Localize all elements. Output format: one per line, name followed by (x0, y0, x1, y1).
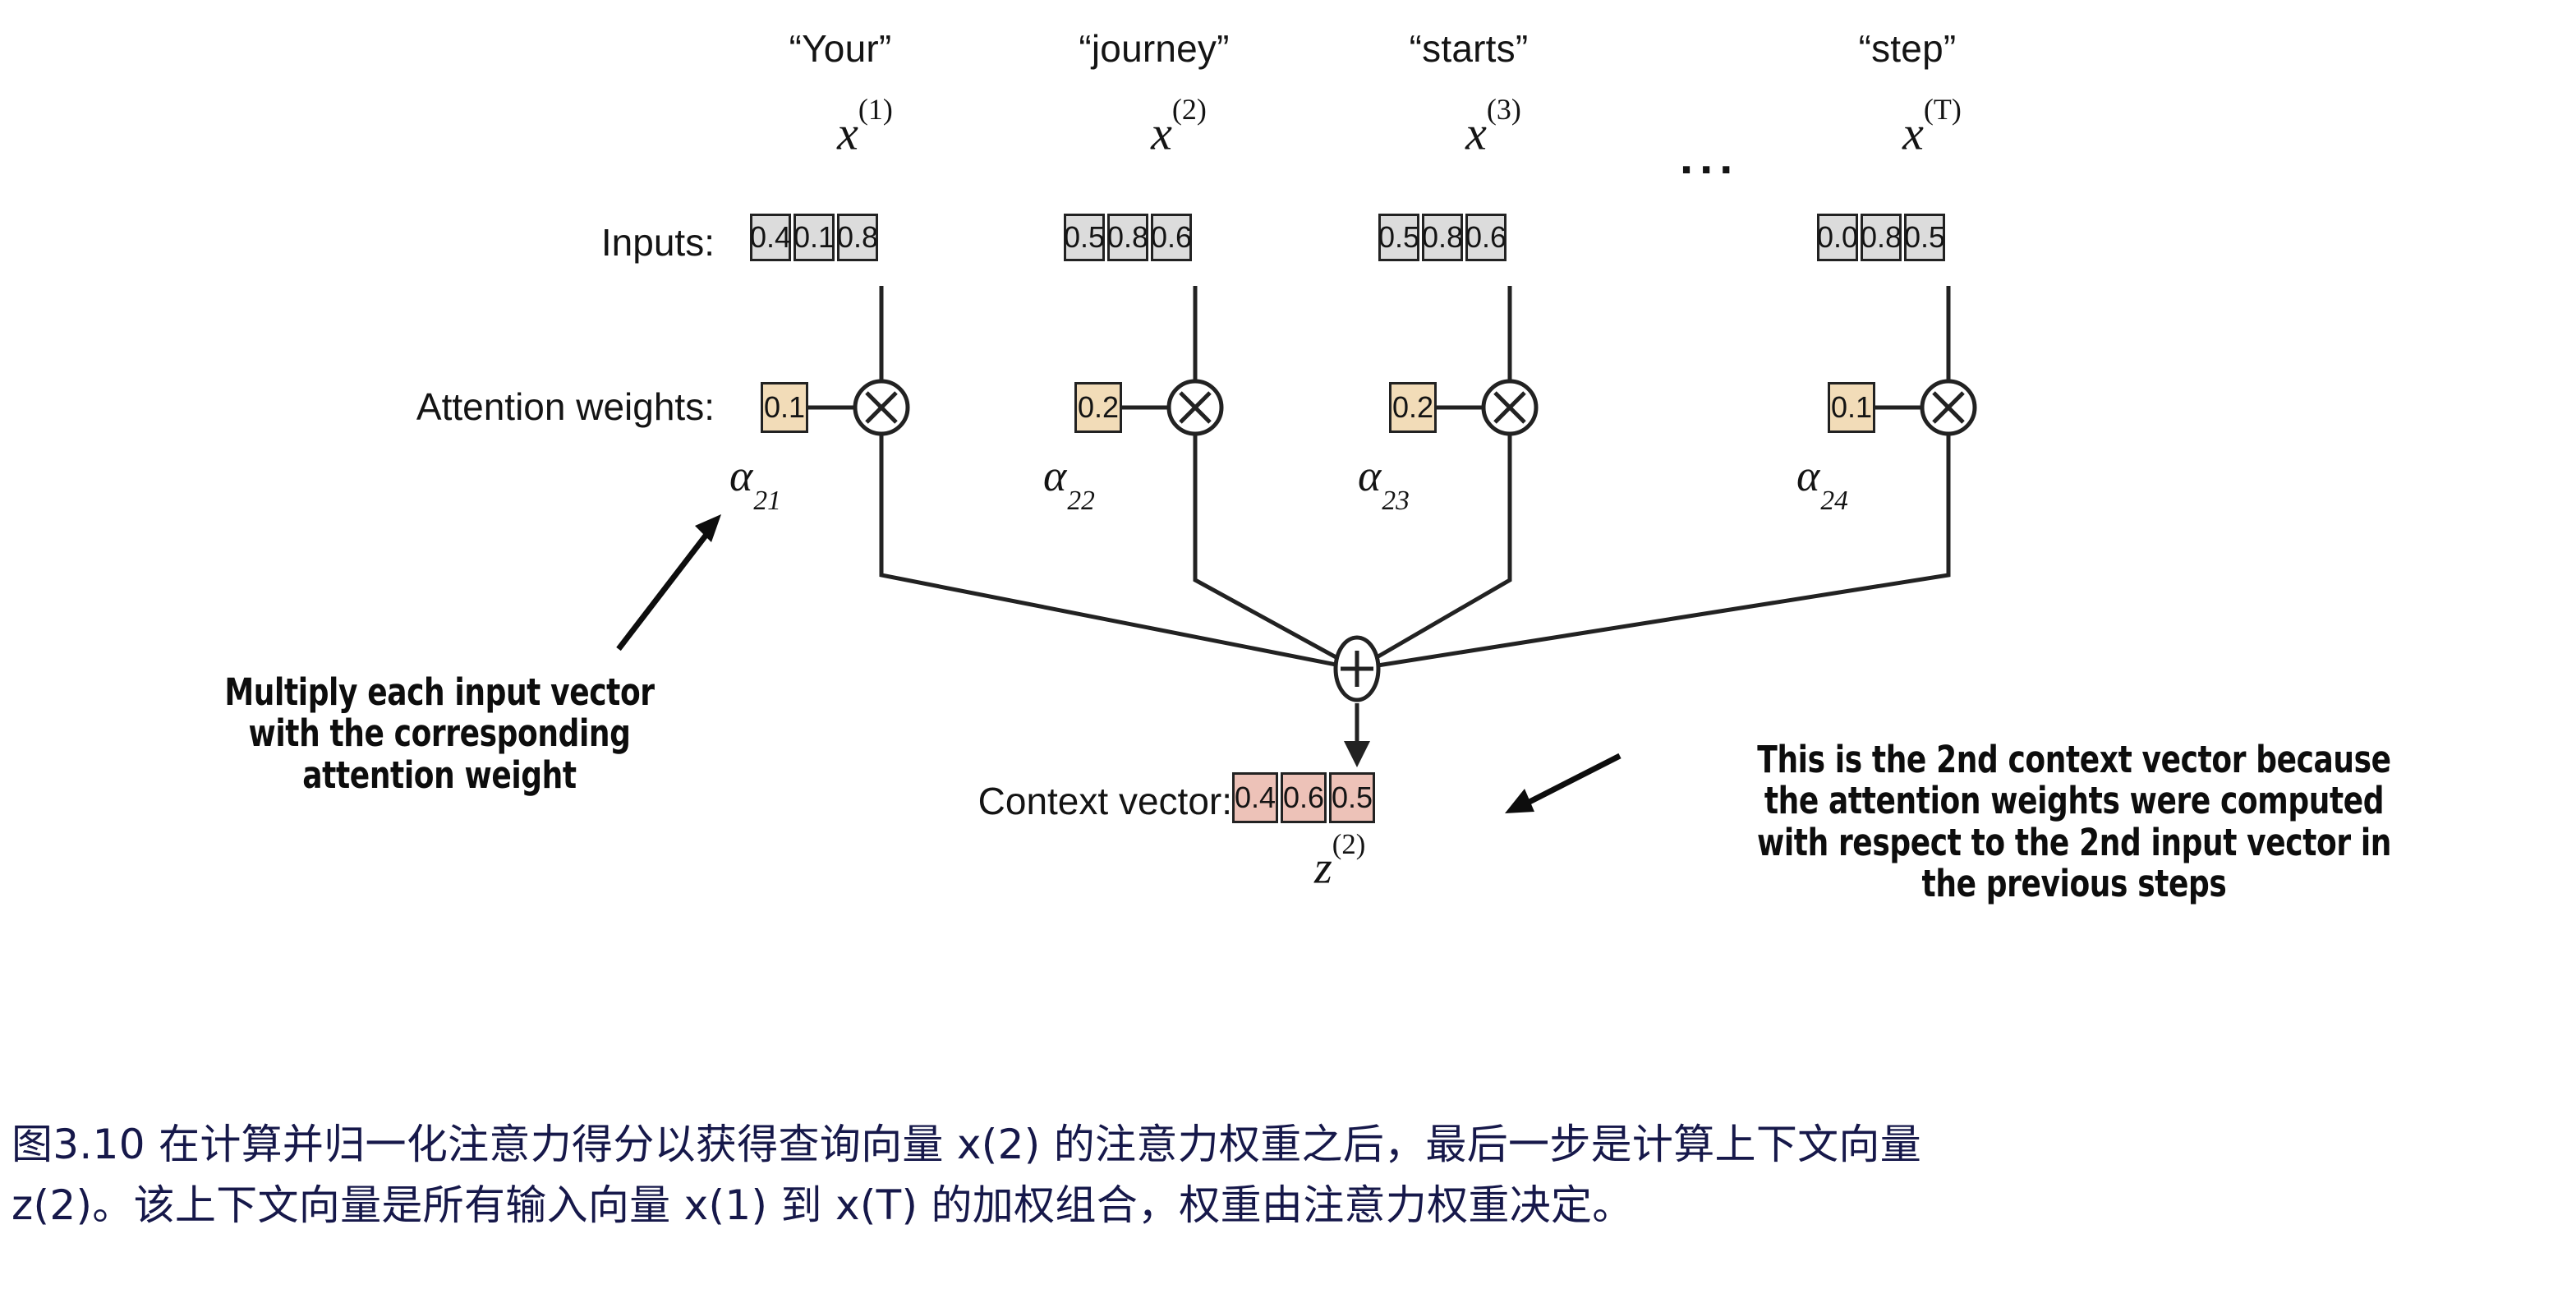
input-cell: 0.5 (1378, 214, 1419, 261)
context-symbol-base: z (1314, 843, 1332, 894)
context-cell: 0.4 (1232, 772, 1278, 823)
context-vector: 0.4 0.6 0.5 (1232, 772, 1375, 823)
alpha-label-21: α21 (729, 450, 780, 508)
input-vector-3: 0.5 0.8 0.6 (1378, 214, 1506, 261)
multiply-node-4 (1922, 381, 1975, 434)
alpha-label-22-base: α (1043, 451, 1066, 500)
token-label-2: “journey” (1056, 26, 1253, 71)
annotation-right-line-3: with respect to the 2nd input vector in (1683, 822, 2465, 863)
input-vector-4: 0.0 0.8 0.5 (1817, 214, 1945, 261)
alpha-label-23-base: α (1358, 451, 1381, 500)
input-cell: 0.8 (1107, 214, 1148, 261)
context-symbol: z(2) (1314, 841, 1365, 895)
token-label-3: “starts” (1370, 26, 1567, 71)
figure-caption-line-2: z(2)。该上下文向量是所有输入向量 x(1) 到 x(T) 的加权组合，权重由… (11, 1175, 2566, 1236)
alpha-label-24: α24 (1796, 450, 1847, 508)
annotation-right: This is the 2nd context vector because t… (1683, 739, 2465, 905)
figure-caption-line-1: 图3.10 在计算并归一化注意力得分以获得查询向量 x(2) 的注意力权重之后，… (11, 1114, 2566, 1175)
figure-caption: 图3.10 在计算并归一化注意力得分以获得查询向量 x(2) 的注意力权重之后，… (11, 1114, 2566, 1236)
input-symbol-1-sup: (1) (858, 93, 893, 126)
attention-weight-2: 0.2 (1074, 382, 1122, 433)
token-label-4: “step” (1809, 26, 2006, 71)
attention-weights-row-label: Attention weights: (238, 384, 715, 429)
connector-wires (0, 0, 2576, 1303)
ellipsis-indicator: ... (1680, 130, 1739, 185)
multiply-node-1 (855, 381, 908, 434)
multiply-node-2 (1169, 381, 1221, 434)
input-symbol-2-sup: (2) (1172, 93, 1207, 126)
wire-mul-1-to-sum (881, 430, 1357, 669)
input-symbol-4-base: x (1902, 106, 1924, 159)
input-vector-2: 0.5 0.8 0.6 (1064, 214, 1192, 261)
context-vector-row-label: Context vector: (846, 779, 1232, 823)
input-symbol-3-sup: (3) (1487, 93, 1521, 126)
alpha-label-22: α22 (1043, 450, 1094, 508)
attention-weight-cell: 0.2 (1074, 382, 1122, 433)
wire-mul-2-to-sum (1195, 430, 1357, 669)
arrow-sum-to-context (1344, 703, 1370, 767)
input-cell: 0.8 (837, 214, 878, 261)
arrow-note-to-alpha21 (619, 514, 721, 649)
input-symbol-2-base: x (1151, 106, 1172, 159)
input-symbol-2: x(2) (1080, 105, 1277, 160)
alpha-label-23-sub: 23 (1382, 486, 1409, 516)
input-cell: 0.6 (1465, 214, 1506, 261)
sum-node (1336, 638, 1378, 700)
attention-weight-cell: 0.2 (1389, 382, 1437, 433)
attention-weight-4: 0.1 (1828, 382, 1875, 433)
attention-weight-cell: 0.1 (1828, 382, 1875, 433)
context-symbol-sup: (2) (1332, 828, 1365, 860)
figure-canvas: “Your” “journey” “starts” “step” x(1) x(… (0, 0, 2576, 1303)
input-cell: 0.1 (793, 214, 835, 261)
inputs-row-label: Inputs: (361, 220, 715, 265)
input-cell: 0.5 (1904, 214, 1945, 261)
input-symbol-3: x(3) (1395, 105, 1592, 160)
input-symbol-3-base: x (1465, 106, 1487, 159)
alpha-label-24-sub: 24 (1820, 486, 1847, 516)
attention-weight-1: 0.1 (761, 382, 808, 433)
context-cell: 0.6 (1281, 772, 1327, 823)
annotation-left: Multiply each input vector with the corr… (167, 672, 712, 796)
annotation-right-line-1: This is the 2nd context vector because (1683, 739, 2465, 780)
alpha-label-22-sub: 22 (1067, 486, 1094, 516)
input-cell: 0.4 (750, 214, 791, 261)
input-symbol-4-sup: (T) (1924, 93, 1962, 126)
input-vector-1: 0.4 0.1 0.8 (750, 214, 878, 261)
input-cell: 0.5 (1064, 214, 1105, 261)
annotation-left-line-2: with the corresponding (167, 713, 712, 754)
multiply-node-3 (1483, 381, 1536, 434)
attention-weight-cell: 0.1 (761, 382, 808, 433)
context-cell: 0.5 (1329, 772, 1375, 823)
alpha-label-24-base: α (1796, 451, 1819, 500)
annotation-right-line-2: the attention weights were computed (1683, 780, 2465, 822)
input-symbol-1-base: x (837, 106, 858, 159)
wire-mul-4-to-sum (1357, 430, 1948, 669)
alpha-label-23: α23 (1358, 450, 1409, 508)
arrow-note-to-context (1505, 756, 1620, 813)
attention-weight-3: 0.2 (1389, 382, 1437, 433)
input-cell: 0.0 (1817, 214, 1858, 261)
input-symbol-1: x(1) (766, 105, 964, 160)
annotation-left-line-3: attention weight (167, 755, 712, 796)
annotation-left-line-1: Multiply each input vector (167, 672, 712, 713)
alpha-label-21-base: α (729, 451, 752, 500)
input-symbol-4: x(T) (1833, 105, 2031, 160)
token-label-1: “Your” (742, 26, 939, 71)
alpha-label-21-sub: 21 (753, 486, 780, 516)
annotation-right-line-4: the previous steps (1683, 863, 2465, 905)
input-cell: 0.8 (1422, 214, 1463, 261)
input-cell: 0.6 (1151, 214, 1192, 261)
input-cell: 0.8 (1861, 214, 1902, 261)
